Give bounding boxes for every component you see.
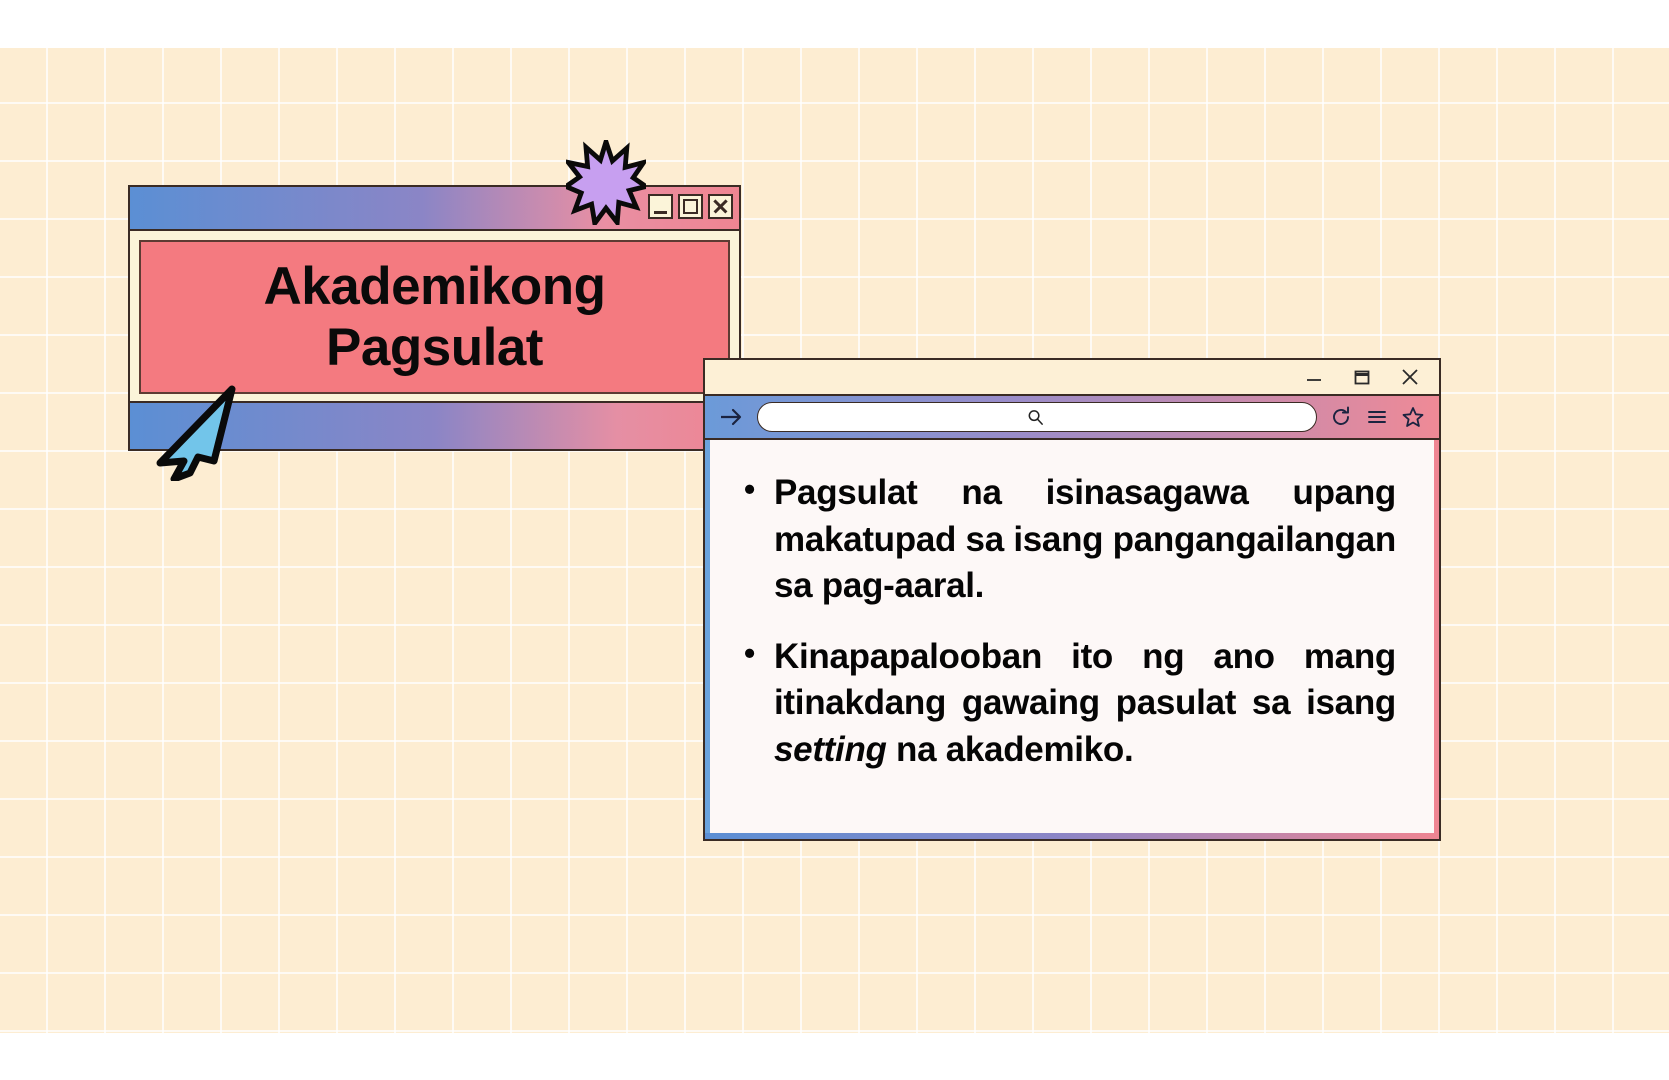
star-outline-icon[interactable] (1401, 405, 1425, 429)
arrow-right-icon[interactable] (717, 405, 745, 429)
reload-icon[interactable] (1329, 405, 1353, 429)
definition-bullet-list: Pagsulat na isinasagawa upang makatupad … (740, 470, 1396, 773)
text-run: Kinapapalooban ito ng ano mang itinakdan… (774, 637, 1396, 723)
bullet-1-text: Pagsulat na isinasagawa upang makatupad … (774, 473, 1396, 605)
address-search-input[interactable] (757, 402, 1317, 432)
retro-window-body: Akademikong Pagsulat (130, 231, 739, 403)
list-item: Kinapapalooban ito ng ano mang itinakdan… (740, 634, 1396, 774)
hamburger-menu-icon[interactable] (1365, 405, 1389, 429)
text-run: Pagsulat na isinasagawa upang makatupad … (774, 473, 1396, 605)
retro-window-titlebar[interactable] (130, 187, 739, 231)
browser-titlebar[interactable] (705, 360, 1439, 396)
search-icon (1026, 408, 1045, 427)
bullet-2-text: Kinapapalooban ito ng ano mang itinakdan… (774, 637, 1396, 769)
page-title-line-1: Akademikong (263, 256, 605, 317)
browser-toolbar (705, 396, 1439, 440)
close-icon[interactable] (1399, 366, 1421, 388)
slide-canvas: Akademikong Pagsulat (0, 0, 1669, 1080)
browser-content-area: Pagsulat na isinasagawa upang makatupad … (705, 440, 1439, 833)
emphasised-term: setting (774, 730, 887, 769)
minimize-button[interactable] (648, 194, 673, 219)
text-run: na akademiko. (887, 730, 1134, 769)
close-button[interactable] (708, 194, 733, 219)
list-item: Pagsulat na isinasagawa upang makatupad … (740, 470, 1396, 610)
star-burst-icon (566, 140, 646, 225)
cursor-arrow-icon (152, 385, 238, 481)
retro-window-controls (648, 194, 733, 219)
page-title-line-2: Pagsulat (326, 317, 543, 378)
minimize-icon[interactable] (1303, 366, 1325, 388)
maximize-button[interactable] (678, 194, 703, 219)
title-panel: Akademikong Pagsulat (139, 240, 730, 394)
browser-window: Pagsulat na isinasagawa upang makatupad … (703, 358, 1441, 841)
maximize-icon[interactable] (1351, 366, 1373, 388)
